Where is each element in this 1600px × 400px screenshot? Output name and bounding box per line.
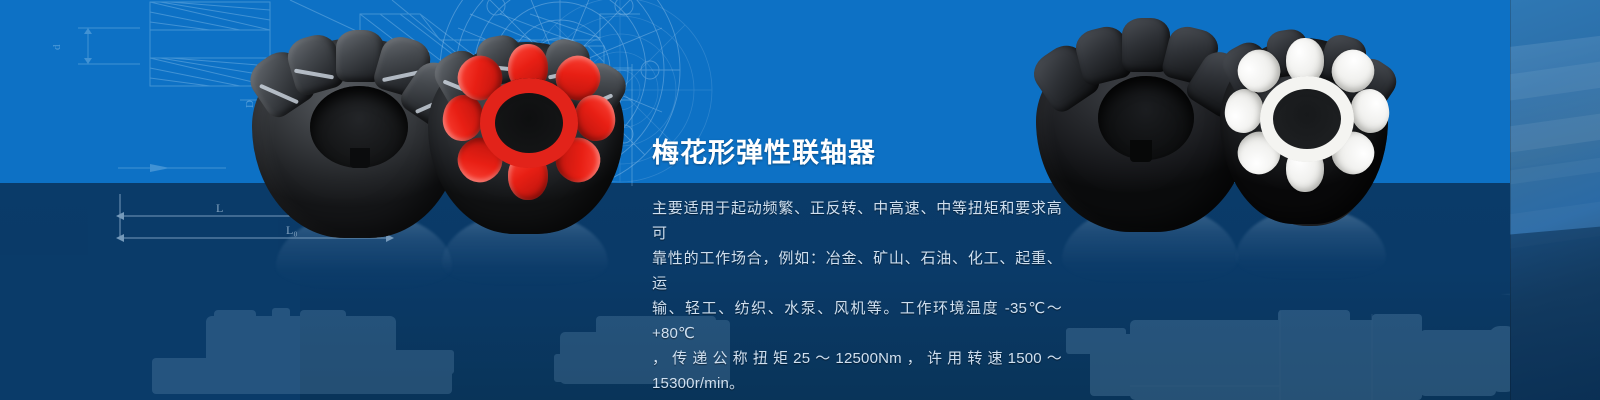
- white-elastomer-spider: [1228, 46, 1384, 196]
- panel-highlight-streak: [1510, 108, 1600, 153]
- panel-seam: [1510, 0, 1511, 400]
- description-line-4: ，传递公称扭矩25～12500Nm，许用转速1500～15300r/min。: [652, 346, 1062, 396]
- description-line-3: 输、轻工、纺织、水泵、风机等。工作环境温度 -35℃～+80℃: [652, 296, 1062, 346]
- description-line-2: 靠性的工作场合，例如：冶金、矿山、石油、化工、起重、运: [652, 246, 1062, 296]
- banner-copy: 梅花形弹性联轴器 主要适用于起动频繁、正反转、中高速、中等扭矩和要求高可 靠性的…: [652, 136, 1062, 396]
- description-line-1: 主要适用于起动频繁、正反转、中高速、中等扭矩和要求高可: [652, 196, 1062, 246]
- product-banner: d D D L L₀: [0, 0, 1600, 400]
- hub-keyway-right: [1130, 140, 1152, 162]
- red-elastomer-spider: [446, 50, 610, 200]
- hub-keyway-left: [350, 148, 370, 168]
- product-description: 主要适用于起动频繁、正反转、中高速、中等扭矩和要求高可 靠性的工作场合，例如：冶…: [652, 196, 1062, 396]
- panel-highlight-streak: [1510, 196, 1600, 249]
- panel-highlight-streak: [1510, 152, 1600, 185]
- product-photo-left: [232, 16, 632, 286]
- spider-center-bore: [1260, 76, 1354, 162]
- spider-center-bore: [480, 78, 578, 168]
- page-title: 梅花形弹性联轴器: [652, 136, 1062, 170]
- right-machine-photo-panel: [1510, 0, 1600, 400]
- product-photo-right: [1022, 14, 1392, 284]
- panel-highlight-streak: [1510, 56, 1600, 101]
